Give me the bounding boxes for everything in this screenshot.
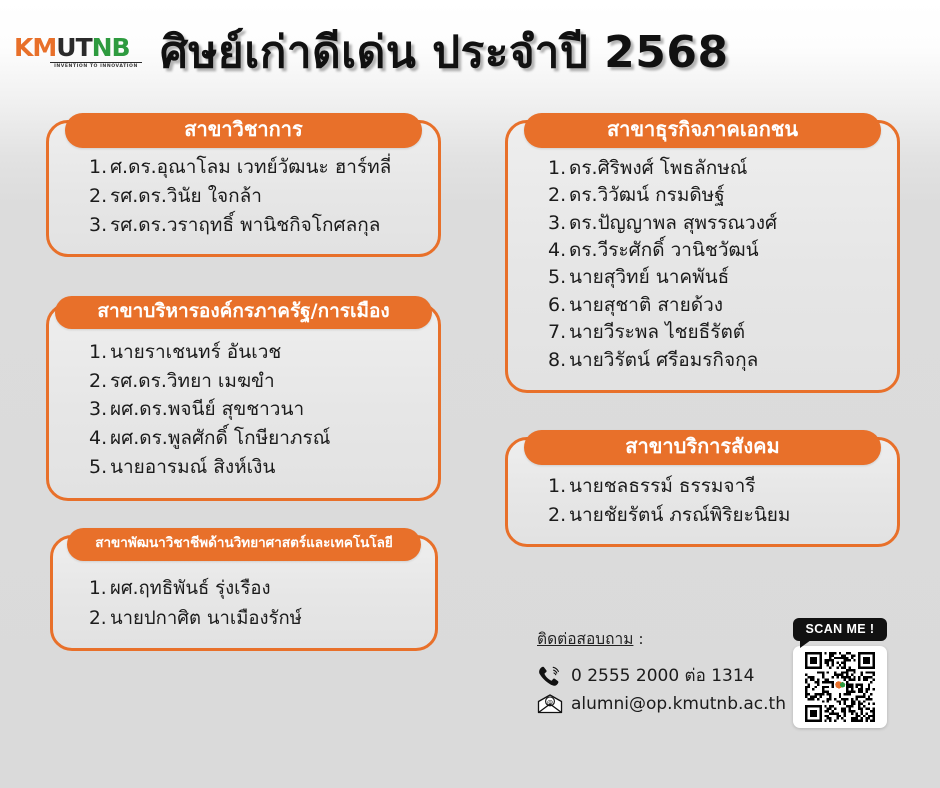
list-item-name: นายสุชาติ สายด้วง: [569, 294, 723, 316]
list-item-number: 2.: [89, 367, 110, 396]
page-header: KMUTNB INVENTION TO INNOVATION ศิษย์เก่า…: [0, 0, 940, 105]
list-item: 3.ผศ.ดร.พจนีย์ สุขชาวนา: [89, 395, 424, 424]
logo-letters-ut: UT: [56, 33, 91, 62]
list-item: 1.นายชลธรรม์ ธรรมจารี: [548, 472, 883, 501]
list-item-number: 1.: [548, 155, 569, 182]
list-item: 5.นายสุวิทย์ นาคพันธ์: [548, 264, 883, 291]
list-item-name: รศ.ดร.วิทยา เมฆขำ: [110, 370, 275, 392]
kmutnb-logo: KMUTNB INVENTION TO INNOVATION: [14, 31, 142, 77]
contact-phone[interactable]: 0 2555 2000 ต่อ 1314: [571, 662, 754, 689]
card-title: สาขาพัฒนาวิชาชีพด้านวิทยาศาสตร์และเทคโนโ…: [67, 528, 421, 561]
list-item-name: นายวิรัตน์ ศรีอมรกิจกุล: [569, 349, 758, 371]
list-item-number: 2.: [548, 501, 569, 530]
contact-label: ติดต่อสอบถาม :: [537, 626, 644, 651]
qr-block[interactable]: SCAN ME !: [793, 618, 887, 728]
list-item: 4.ดร.วีระศักดิ์ วานิชวัฒน์: [548, 237, 883, 264]
list-item: 1.ศ.ดร.อุณาโลม เวทย์วัฒนะ ฮาร์ทลี่: [89, 153, 424, 182]
list-item-number: 2.: [89, 182, 110, 211]
list-item-number: 8.: [548, 347, 569, 374]
list-item-number: 3.: [89, 395, 110, 424]
list-item-number: 6.: [548, 292, 569, 319]
list-item-number: 2.: [89, 604, 110, 634]
list-item-name: นายชัยรัตน์ ภรณ์พิริยะนิยม: [569, 504, 790, 526]
list-item-number: 3.: [89, 211, 110, 240]
left-column: สาขาวิชาการ1.ศ.ดร.อุณาโลม เวทย์วัฒนะ ฮาร…: [46, 120, 441, 677]
list-item-name: ผศ.ดร.พจนีย์ สุขชาวนา: [110, 398, 304, 420]
list-item-number: 5.: [89, 453, 110, 482]
list-item: 7.นายวีระพล ไชยธีรัตต์: [548, 319, 883, 346]
name-list: 1.ศ.ดร.อุณาโลม เวทย์วัฒนะ ฮาร์ทลี่2.รศ.ด…: [63, 153, 424, 240]
logo-letter-k: K: [14, 33, 32, 62]
contact-label-colon: :: [633, 630, 643, 648]
list-item-number: 4.: [89, 424, 110, 453]
list-item-name: นายวีระพล ไชยธีรัตต์: [569, 321, 745, 343]
list-item: 2.นายปกาศิต นาเมืองรักษ์: [89, 604, 421, 634]
list-item: 2.ดร.วิวัฒน์ กรมดิษฐ์: [548, 182, 883, 209]
phone-icon: [537, 665, 571, 687]
list-item-number: 1.: [548, 472, 569, 501]
list-item: 2.รศ.ดร.วิทยา เมฆขำ: [89, 367, 424, 396]
list-item: 1.นายราเชนทร์ อันเวช: [89, 338, 424, 367]
list-item-name: ผศ.ดร.พูลศักดิ์ โกษียาภรณ์: [110, 427, 330, 449]
name-list: 1.นายชลธรรม์ ธรรมจารี2.นายชัยรัตน์ ภรณ์พ…: [522, 472, 883, 530]
list-item-name: นายสุวิทย์ นาคพันธ์: [569, 266, 729, 288]
page-title: ศิษย์เก่าดีเด่น ประจำปี 2568: [160, 31, 729, 75]
list-item: 6.นายสุชาติ สายด้วง: [548, 292, 883, 319]
list-item: 3.ดร.ปัญญาพล สุพรรณวงศ์: [548, 210, 883, 237]
list-item-number: 1.: [89, 574, 110, 604]
right-column: สาขาธุรกิจภาคเอกชน1.ดร.ศิริพงศ์ โพธลักษณ…: [505, 120, 900, 573]
list-item-name: รศ.ดร.วินัย ใจกล้า: [110, 185, 262, 207]
list-item-number: 1.: [89, 338, 110, 367]
qr-card[interactable]: [793, 646, 887, 728]
list-item-number: 4.: [548, 237, 569, 264]
email-icon: @: [537, 694, 571, 714]
list-item-name: นายอารมณ์ สิงห์เงิน: [110, 456, 275, 478]
logo-letters-nb: NB: [92, 33, 130, 62]
list-item-number: 5.: [548, 264, 569, 291]
category-card-gov: สาขาบริหารองค์กรภาครัฐ/การเมือง1.นายราเช…: [46, 303, 441, 501]
logo-tagline: INVENTION TO INNOVATION: [50, 62, 142, 70]
list-item: 3.รศ.ดร.วราฤทธิ์ พานิชกิจโกศลกุล: [89, 211, 424, 240]
list-item: 1.ผศ.ฤทธิพันธ์ รุ่งเรือง: [89, 574, 421, 604]
list-item-name: นายราเชนทร์ อันเวช: [110, 341, 281, 363]
category-card-private: สาขาธุรกิจภาคเอกชน1.ดร.ศิริพงศ์ โพธลักษณ…: [505, 120, 900, 393]
name-list: 1.ผศ.ฤทธิพันธ์ รุ่งเรือง2.นายปกาศิต นาเม…: [67, 574, 421, 634]
list-item-name: ดร.ปัญญาพล สุพรรณวงศ์: [569, 212, 777, 234]
list-item-number: 2.: [548, 182, 569, 209]
contact-label-text: ติดต่อสอบถาม: [537, 630, 633, 648]
list-item-number: 7.: [548, 319, 569, 346]
category-card-academic: สาขาวิชาการ1.ศ.ดร.อุณาโลม เวทย์วัฒนะ ฮาร…: [46, 120, 441, 257]
list-item: 1.ดร.ศิริพงศ์ โพธลักษณ์: [548, 155, 883, 182]
card-title: สาขาบริการสังคม: [524, 430, 881, 465]
list-item: 2.นายชัยรัตน์ ภรณ์พิริยะนิยม: [548, 501, 883, 530]
logo-wordmark: KMUTNB: [14, 35, 142, 61]
list-item: 4.ผศ.ดร.พูลศักดิ์ โกษียาภรณ์: [89, 424, 424, 453]
list-item-name: นายชลธรรม์ ธรรมจารี: [569, 475, 755, 497]
list-item-name: ดร.วิวัฒน์ กรมดิษฐ์: [569, 184, 725, 206]
list-item-name: นายปกาศิต นาเมืองรักษ์: [110, 608, 302, 629]
name-list: 1.ดร.ศิริพงศ์ โพธลักษณ์2.ดร.วิวัฒน์ กรมด…: [522, 155, 883, 374]
card-title: สาขาวิชาการ: [65, 113, 422, 148]
card-title: สาขาบริหารองค์กรภาครัฐ/การเมือง: [55, 296, 432, 330]
list-item-number: 3.: [548, 210, 569, 237]
category-card-social: สาขาบริการสังคม1.นายชลธรรม์ ธรรมจารี2.นา…: [505, 437, 900, 547]
category-card-sci: สาขาพัฒนาวิชาชีพด้านวิทยาศาสตร์และเทคโนโ…: [50, 535, 438, 651]
svg-text:@: @: [547, 698, 553, 706]
list-item: 2.รศ.ดร.วินัย ใจกล้า: [89, 182, 424, 211]
logo-letter-m: M: [32, 33, 56, 62]
scan-me-badge: SCAN ME !: [793, 618, 887, 641]
list-item: 8.นายวิรัตน์ ศรีอมรกิจกุล: [548, 347, 883, 374]
list-item: 5.นายอารมณ์ สิงห์เงิน: [89, 453, 424, 482]
contact-email[interactable]: alumni@op.kmutnb.ac.th: [571, 694, 786, 714]
card-title: สาขาธุรกิจภาคเอกชน: [524, 113, 881, 148]
qr-code[interactable]: [801, 652, 879, 722]
list-item-name: ดร.ศิริพงศ์ โพธลักษณ์: [569, 157, 747, 179]
list-item-name: ศ.ดร.อุณาโลม เวทย์วัฒนะ ฮาร์ทลี่: [110, 156, 391, 178]
list-item-name: ผศ.ฤทธิพันธ์ รุ่งเรือง: [110, 578, 271, 599]
list-item-name: รศ.ดร.วราฤทธิ์ พานิชกิจโกศลกุล: [110, 214, 380, 236]
name-list: 1.นายราเชนทร์ อันเวช2.รศ.ดร.วิทยา เมฆขำ3…: [63, 338, 424, 482]
list-item-name: ดร.วีระศักดิ์ วานิชวัฒน์: [569, 239, 759, 261]
list-item-number: 1.: [89, 153, 110, 182]
